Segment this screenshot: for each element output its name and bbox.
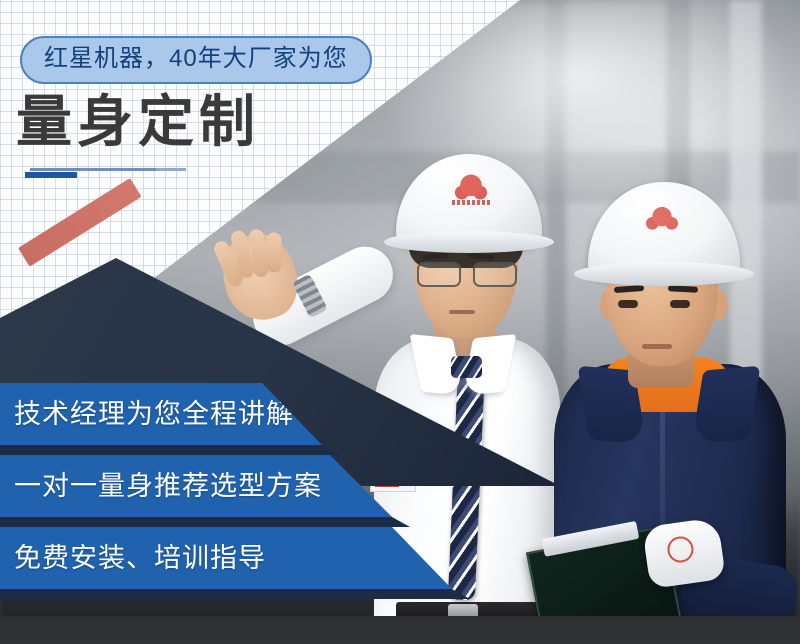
feature-bar-label: 一对一量身推荐选型方案 <box>14 473 322 500</box>
hard-hat-logo <box>448 174 494 204</box>
feature-bar-3[interactable]: 免费安装、培训指导 <box>0 527 452 589</box>
feature-bar-2[interactable]: 一对一量身推荐选型方案 <box>0 455 392 517</box>
banner-canvas: 红星机器，40年大厂家为您 量身定制 技术经理为您全程讲解 一对一量身推荐选型方… <box>0 0 800 644</box>
tagline-badge: 红星机器，40年大厂家为您 <box>20 36 372 84</box>
hard-hat-logo <box>640 206 684 234</box>
headline-rule-dark <box>25 172 77 178</box>
eye-left <box>618 300 638 308</box>
headline-rule-light <box>30 168 156 171</box>
mouth <box>642 344 672 349</box>
mouth <box>449 310 475 314</box>
feature-bar-label: 免费安装、培训指导 <box>14 545 266 572</box>
feature-bar-shadow <box>0 445 340 455</box>
eye-right <box>670 300 690 308</box>
bottom-floor-strip <box>0 616 800 644</box>
eyeglasses <box>416 262 518 284</box>
feature-bar-shadow <box>0 589 470 599</box>
feature-bar-label: 技术经理为您全程讲解 <box>14 401 294 428</box>
feature-bar-shadow <box>0 517 410 527</box>
feature-bar-list: 技术经理为您全程讲解 一对一量身推荐选型方案 免费安装、培训指导 <box>0 383 800 644</box>
tie-knot <box>451 356 482 378</box>
headline-title: 量身定制 <box>16 94 260 150</box>
feature-bar-1[interactable]: 技术经理为您全程讲解 <box>0 383 322 445</box>
